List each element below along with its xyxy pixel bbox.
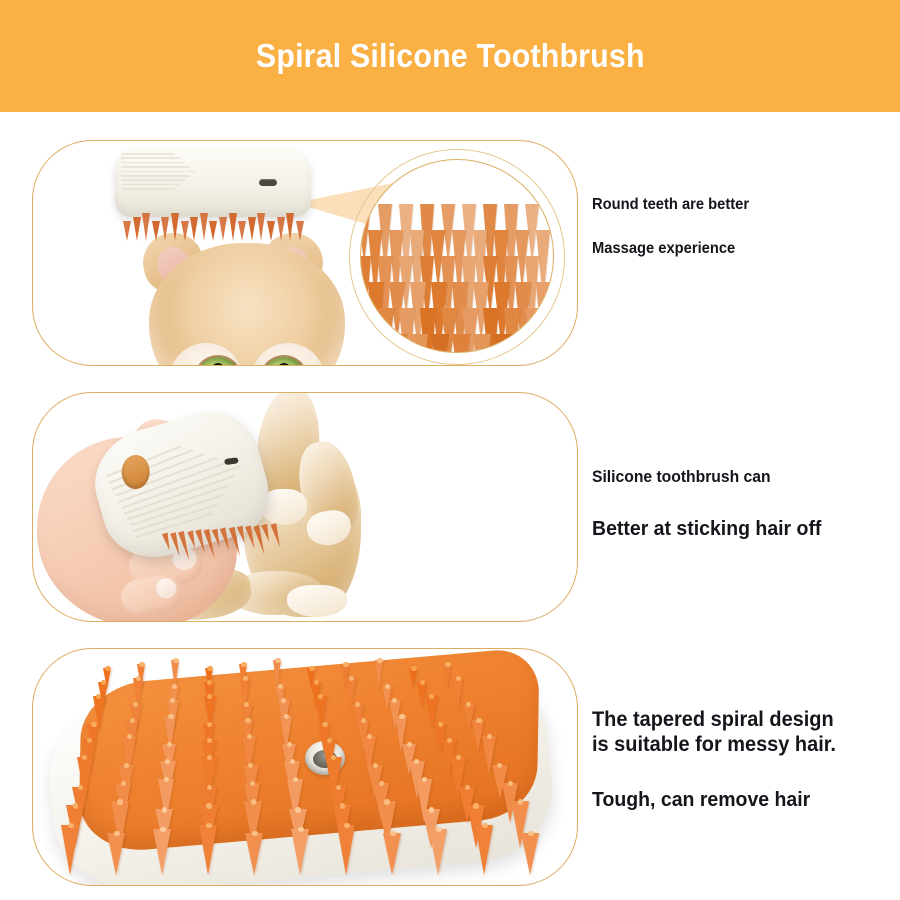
silicone-cone <box>429 829 447 875</box>
cone-tip <box>243 676 248 681</box>
silicone-cone <box>245 833 263 875</box>
cone-tip <box>130 718 135 723</box>
cone-tip <box>247 734 252 739</box>
cone-tip <box>168 714 173 719</box>
cone-tip <box>101 680 106 685</box>
cone-tip <box>114 831 119 836</box>
cone-tip <box>127 734 132 739</box>
usb-c-port-icon <box>259 179 277 186</box>
magnified-tooth <box>452 334 470 353</box>
section-2-image-panel <box>32 392 578 622</box>
cone-tip <box>343 662 348 667</box>
cone-tip <box>78 785 83 790</box>
section-1-illustration <box>33 141 577 365</box>
section-1-line-1: Round teeth are better <box>592 196 749 214</box>
usb-c-port-icon-2 <box>224 457 239 465</box>
cone-tip <box>207 738 212 743</box>
section-3-line-2: is suitable for messy hair. <box>592 733 836 758</box>
magnified-tooth <box>410 334 428 353</box>
cone-tip <box>482 823 487 828</box>
silicone-cone <box>291 829 309 875</box>
cone-tip <box>361 718 366 723</box>
cone-tip <box>367 734 372 739</box>
section-3-image-panel <box>32 648 578 886</box>
silicone-cone <box>375 660 383 689</box>
cone-tip <box>290 759 295 764</box>
cone-tip <box>473 803 478 808</box>
cone-tip <box>173 658 178 663</box>
cone-tip <box>298 827 303 832</box>
cone-tip <box>87 738 92 743</box>
device-ridge-texture-2 <box>83 400 244 446</box>
magnified-tooth <box>494 334 512 353</box>
section-3-copy: The tapered spiral design is suitable fo… <box>592 708 849 812</box>
cone-tip <box>275 658 280 663</box>
cone-tip <box>384 799 389 804</box>
silicone-cone <box>453 678 463 709</box>
cone-tip <box>476 718 481 723</box>
cone-tip <box>336 785 341 790</box>
cone-tip <box>207 785 212 790</box>
cone-tip <box>172 684 177 689</box>
device-teeth-row <box>123 211 303 241</box>
cone-tip <box>245 718 250 723</box>
cone-tip <box>139 662 144 667</box>
silicone-cone <box>61 825 79 875</box>
silicone-cone <box>443 664 451 689</box>
section-3-line-3: Tough, can remove hair <box>592 788 836 812</box>
cone-tip <box>438 722 443 727</box>
cone-tip <box>422 777 427 782</box>
silicone-cone <box>409 668 417 689</box>
silicone-cone <box>199 825 217 875</box>
cone-tip <box>373 763 378 768</box>
cone-tip <box>436 827 441 832</box>
silicone-cone <box>383 833 401 875</box>
section-2-line-1: Silicone toothbrush can <box>592 468 821 487</box>
section-1-line-2: Massage experience <box>592 240 749 258</box>
cone-tip <box>207 722 212 727</box>
cone-tip <box>167 742 172 747</box>
cone-tip <box>411 666 416 671</box>
cone-tip <box>447 738 452 743</box>
cone-tip <box>162 807 167 812</box>
cone-tip <box>340 803 345 808</box>
cone-tip <box>121 781 126 786</box>
device-body <box>115 147 311 217</box>
cone-tip <box>429 807 434 812</box>
section-2-copy: Silicone toothbrush can Better at sticki… <box>592 468 834 541</box>
silicone-cone <box>475 825 493 875</box>
section-3-line-1: The tapered spiral design <box>592 708 836 733</box>
magnified-tooth <box>536 334 554 353</box>
section-1-image-panel <box>32 140 578 366</box>
silicone-cone <box>107 833 125 875</box>
cone-tip <box>309 666 314 671</box>
cone-tip <box>322 722 327 727</box>
header-banner: Spiral Silicone Toothbrush <box>0 0 900 112</box>
cone-tip <box>251 799 256 804</box>
brush-head-closeup <box>33 649 577 885</box>
section-3-illustration <box>33 649 577 885</box>
cone-tip <box>250 781 255 786</box>
silicone-cone <box>521 833 539 875</box>
cone-tip <box>465 785 470 790</box>
cone-tip <box>287 742 292 747</box>
cone-tip <box>68 823 73 828</box>
steam-brush-device-in-hand <box>83 400 280 569</box>
steam-brush-device <box>115 147 311 217</box>
cone-tip <box>445 662 450 667</box>
cone-tip <box>528 831 533 836</box>
cone-tip <box>385 684 390 689</box>
product-infographic: Spiral Silicone Toothbrush <box>0 0 900 900</box>
magnified-tooth <box>515 334 533 353</box>
cone-tip <box>206 803 211 808</box>
cone-tip <box>314 680 319 685</box>
device-ridge-texture <box>121 153 195 193</box>
section-2-line-2: Better at sticking hair off <box>592 517 821 541</box>
cone-tip <box>73 803 78 808</box>
cone-tip <box>379 781 384 786</box>
section-2-illustration <box>33 393 577 621</box>
silicone-cone <box>153 829 171 875</box>
cone-tip <box>117 799 122 804</box>
cone-tip <box>407 742 412 747</box>
cone-tip <box>508 781 513 786</box>
magnified-teeth-field <box>361 160 553 352</box>
cone-tip <box>206 823 211 828</box>
magnified-tooth <box>431 334 449 353</box>
cone-tip <box>377 658 382 663</box>
cone-tip <box>207 666 212 671</box>
cone-tip <box>390 831 395 836</box>
cone-tip <box>399 714 404 719</box>
magnified-tooth <box>473 334 491 353</box>
silicone-cone <box>337 825 355 875</box>
cone-tip <box>252 831 257 836</box>
magnified-tooth <box>389 334 407 353</box>
cone-tip <box>160 827 165 832</box>
cone-tip <box>456 676 461 681</box>
cone-tip <box>124 763 129 768</box>
cone-tip <box>344 823 349 828</box>
cone-tip <box>241 662 246 667</box>
section-1-copy: Round teeth are better Massage experienc… <box>592 196 757 284</box>
cone-tip <box>487 734 492 739</box>
cone-tip <box>295 807 300 812</box>
cone-tip <box>91 722 96 727</box>
cone-tip <box>518 799 523 804</box>
finger-ring <box>118 572 185 618</box>
cat-hindpaw-right <box>287 585 347 617</box>
cone-tip <box>164 777 169 782</box>
page-title: Spiral Silicone Toothbrush <box>256 37 645 75</box>
cone-tip <box>327 738 332 743</box>
cone-tip <box>293 777 298 782</box>
cone-tip <box>456 755 461 760</box>
cone-tip <box>105 666 110 671</box>
cone-tip <box>207 755 212 760</box>
cone-tip <box>284 714 289 719</box>
magnifier-circle <box>360 159 554 353</box>
